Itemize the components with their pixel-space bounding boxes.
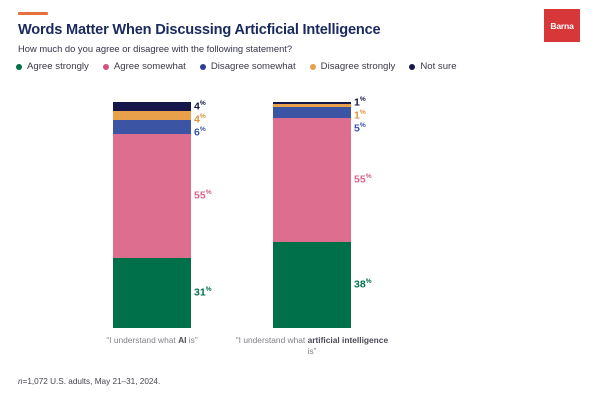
bar-segment-label: 55% bbox=[194, 190, 212, 201]
legend-item-label: Agree strongly bbox=[27, 61, 89, 72]
bar-category-label: “I understand what AI is” bbox=[72, 335, 232, 346]
legend-item[interactable]: Not sure bbox=[409, 61, 456, 72]
bar-segment[interactable] bbox=[273, 118, 351, 242]
accent-rule bbox=[18, 12, 48, 15]
stacked-bar[interactable] bbox=[113, 102, 191, 328]
bar-group: 4%4%6%55%31%“I understand what AI is” bbox=[72, 95, 232, 355]
legend-item-label: Not sure bbox=[420, 61, 456, 72]
barna-logo: Barna bbox=[544, 9, 580, 42]
stacked-bar[interactable] bbox=[273, 102, 351, 328]
bar-segment-value: 55 bbox=[354, 173, 366, 185]
bar-segment[interactable] bbox=[113, 120, 191, 134]
legend-swatch-icon bbox=[310, 64, 316, 70]
bar-segment-value: 55 bbox=[194, 189, 206, 201]
percent-sign: % bbox=[360, 109, 366, 116]
percent-sign: % bbox=[360, 122, 366, 129]
bar-segment-label: 6% bbox=[194, 127, 206, 138]
bar-segment-label: 55% bbox=[354, 174, 372, 185]
legend-item-label: Agree somewhat bbox=[114, 61, 186, 72]
percent-sign: % bbox=[200, 126, 206, 133]
chart-plot-area: 4%4%6%55%31%“I understand what AI is”1%1… bbox=[0, 95, 600, 355]
chart-legend: Agree stronglyAgree somewhatDisagree som… bbox=[16, 61, 457, 72]
percent-sign: % bbox=[206, 286, 212, 293]
legend-swatch-icon bbox=[16, 64, 22, 70]
bar-segment[interactable] bbox=[113, 111, 191, 120]
bar-segment-label: 1% bbox=[354, 97, 366, 108]
percent-sign: % bbox=[360, 96, 366, 103]
bar-segment[interactable] bbox=[113, 258, 191, 328]
percent-sign: % bbox=[206, 189, 212, 196]
legend-item[interactable]: Agree somewhat bbox=[103, 61, 186, 72]
page-title: Words Matter When Discussing Articficial… bbox=[18, 22, 380, 38]
percent-sign: % bbox=[366, 278, 372, 285]
footnote: n=1,072 U.S. adults, May 21–31, 2024. bbox=[18, 377, 160, 386]
bar-group: 1%1%5%55%38%“I understand what artificia… bbox=[232, 95, 392, 355]
bar-segment-label: 4% bbox=[194, 101, 206, 112]
legend-item[interactable]: Disagree strongly bbox=[310, 61, 396, 72]
bar-segment-label: 31% bbox=[194, 287, 212, 298]
bar-segment-label: 4% bbox=[194, 114, 206, 125]
bar-segment-value: 31 bbox=[194, 286, 206, 298]
footnote-text: =1,072 U.S. adults, May 21–31, 2024. bbox=[23, 377, 161, 386]
bar-segment[interactable] bbox=[273, 107, 351, 118]
legend-item[interactable]: Disagree somewhat bbox=[200, 61, 296, 72]
legend-swatch-icon bbox=[200, 64, 206, 70]
legend-item-label: Disagree strongly bbox=[321, 61, 396, 72]
bar-segment-label: 5% bbox=[354, 123, 366, 134]
page-subtitle: How much do you agree or disagree with t… bbox=[18, 43, 292, 54]
percent-sign: % bbox=[200, 113, 206, 120]
percent-sign: % bbox=[200, 100, 206, 107]
bar-segment[interactable] bbox=[113, 102, 191, 111]
bar-segment-value: 38 bbox=[354, 279, 366, 291]
bar-category-label: “I understand what artificial intelligen… bbox=[232, 335, 392, 358]
brand-name: Barna bbox=[550, 21, 573, 31]
legend-item[interactable]: Agree strongly bbox=[16, 61, 89, 72]
bar-segment-label: 1% bbox=[354, 110, 366, 121]
bar-segment[interactable] bbox=[113, 134, 191, 258]
legend-item-label: Disagree somewhat bbox=[211, 61, 296, 72]
bar-segment[interactable] bbox=[273, 242, 351, 328]
legend-swatch-icon bbox=[103, 64, 109, 70]
percent-sign: % bbox=[366, 173, 372, 180]
bar-segment-label: 38% bbox=[354, 279, 372, 290]
legend-swatch-icon bbox=[409, 64, 415, 70]
